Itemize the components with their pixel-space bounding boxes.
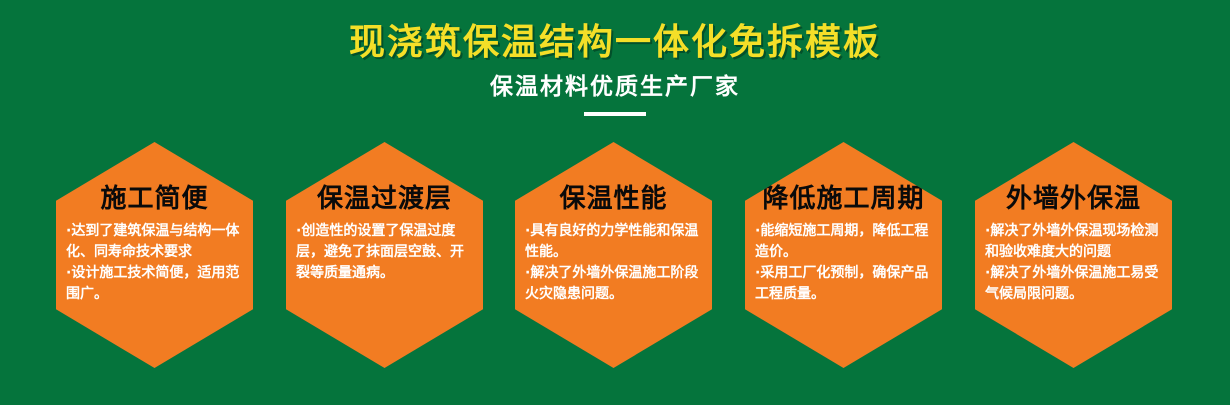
- feature-title: 施工简便: [56, 184, 253, 214]
- feature-title: 降低施工周期: [745, 184, 942, 214]
- feature-hexagon-row: 施工简便 ·达到了建筑保温与结构一体化、同寿命技术要求·设计施工技术简便，适用范…: [0, 142, 1230, 372]
- feature-body: ·达到了建筑保温与结构一体化、同寿命技术要求·设计施工技术简便，适用范围广。: [56, 221, 253, 305]
- banner-header: 现浇筑保温结构一体化免拆模板 保温材料优质生产厂家: [0, 0, 1230, 116]
- promo-banner: 现浇筑保温结构一体化免拆模板 保温材料优质生产厂家 施工简便 ·达到了建筑保温与…: [0, 0, 1230, 405]
- feature-body: ·能缩短施工周期，降低工程造价。·采用工厂化预制，确保产品工程质量。: [745, 221, 942, 305]
- page-subtitle: 保温材料优质生产厂家: [0, 73, 1230, 101]
- feature-hexagon[interactable]: 保温性能 ·具有良好的力学性能和保温性能。·解决了外墙外保温施工阶段火灾隐患问题…: [515, 142, 712, 368]
- feature-body: ·解决了外墙外保温现场检测和验收难度大的问题·解决了外墙外保温施工易受气候局限问…: [975, 221, 1172, 305]
- feature-title: 保温过渡层: [286, 184, 483, 214]
- feature-body: ·创造性的设置了保温过度层，避免了抹面层空鼓、开裂等质量通病。: [286, 221, 483, 284]
- feature-hexagon[interactable]: 保温过渡层 ·创造性的设置了保温过度层，避免了抹面层空鼓、开裂等质量通病。: [286, 142, 483, 368]
- feature-title: 外墙外保温: [975, 184, 1172, 214]
- feature-hexagon[interactable]: 降低施工周期 ·能缩短施工周期，降低工程造价。·采用工厂化预制，确保产品工程质量…: [745, 142, 942, 368]
- feature-hexagon[interactable]: 外墙外保温 ·解决了外墙外保温现场检测和验收难度大的问题·解决了外墙外保温施工易…: [975, 142, 1172, 368]
- page-title: 现浇筑保温结构一体化免拆模板: [0, 21, 1230, 63]
- feature-body: ·具有良好的力学性能和保温性能。·解决了外墙外保温施工阶段火灾隐患问题。: [515, 221, 712, 305]
- feature-title: 保温性能: [515, 184, 712, 214]
- title-divider: [584, 112, 646, 116]
- feature-hexagon[interactable]: 施工简便 ·达到了建筑保温与结构一体化、同寿命技术要求·设计施工技术简便，适用范…: [56, 142, 253, 368]
